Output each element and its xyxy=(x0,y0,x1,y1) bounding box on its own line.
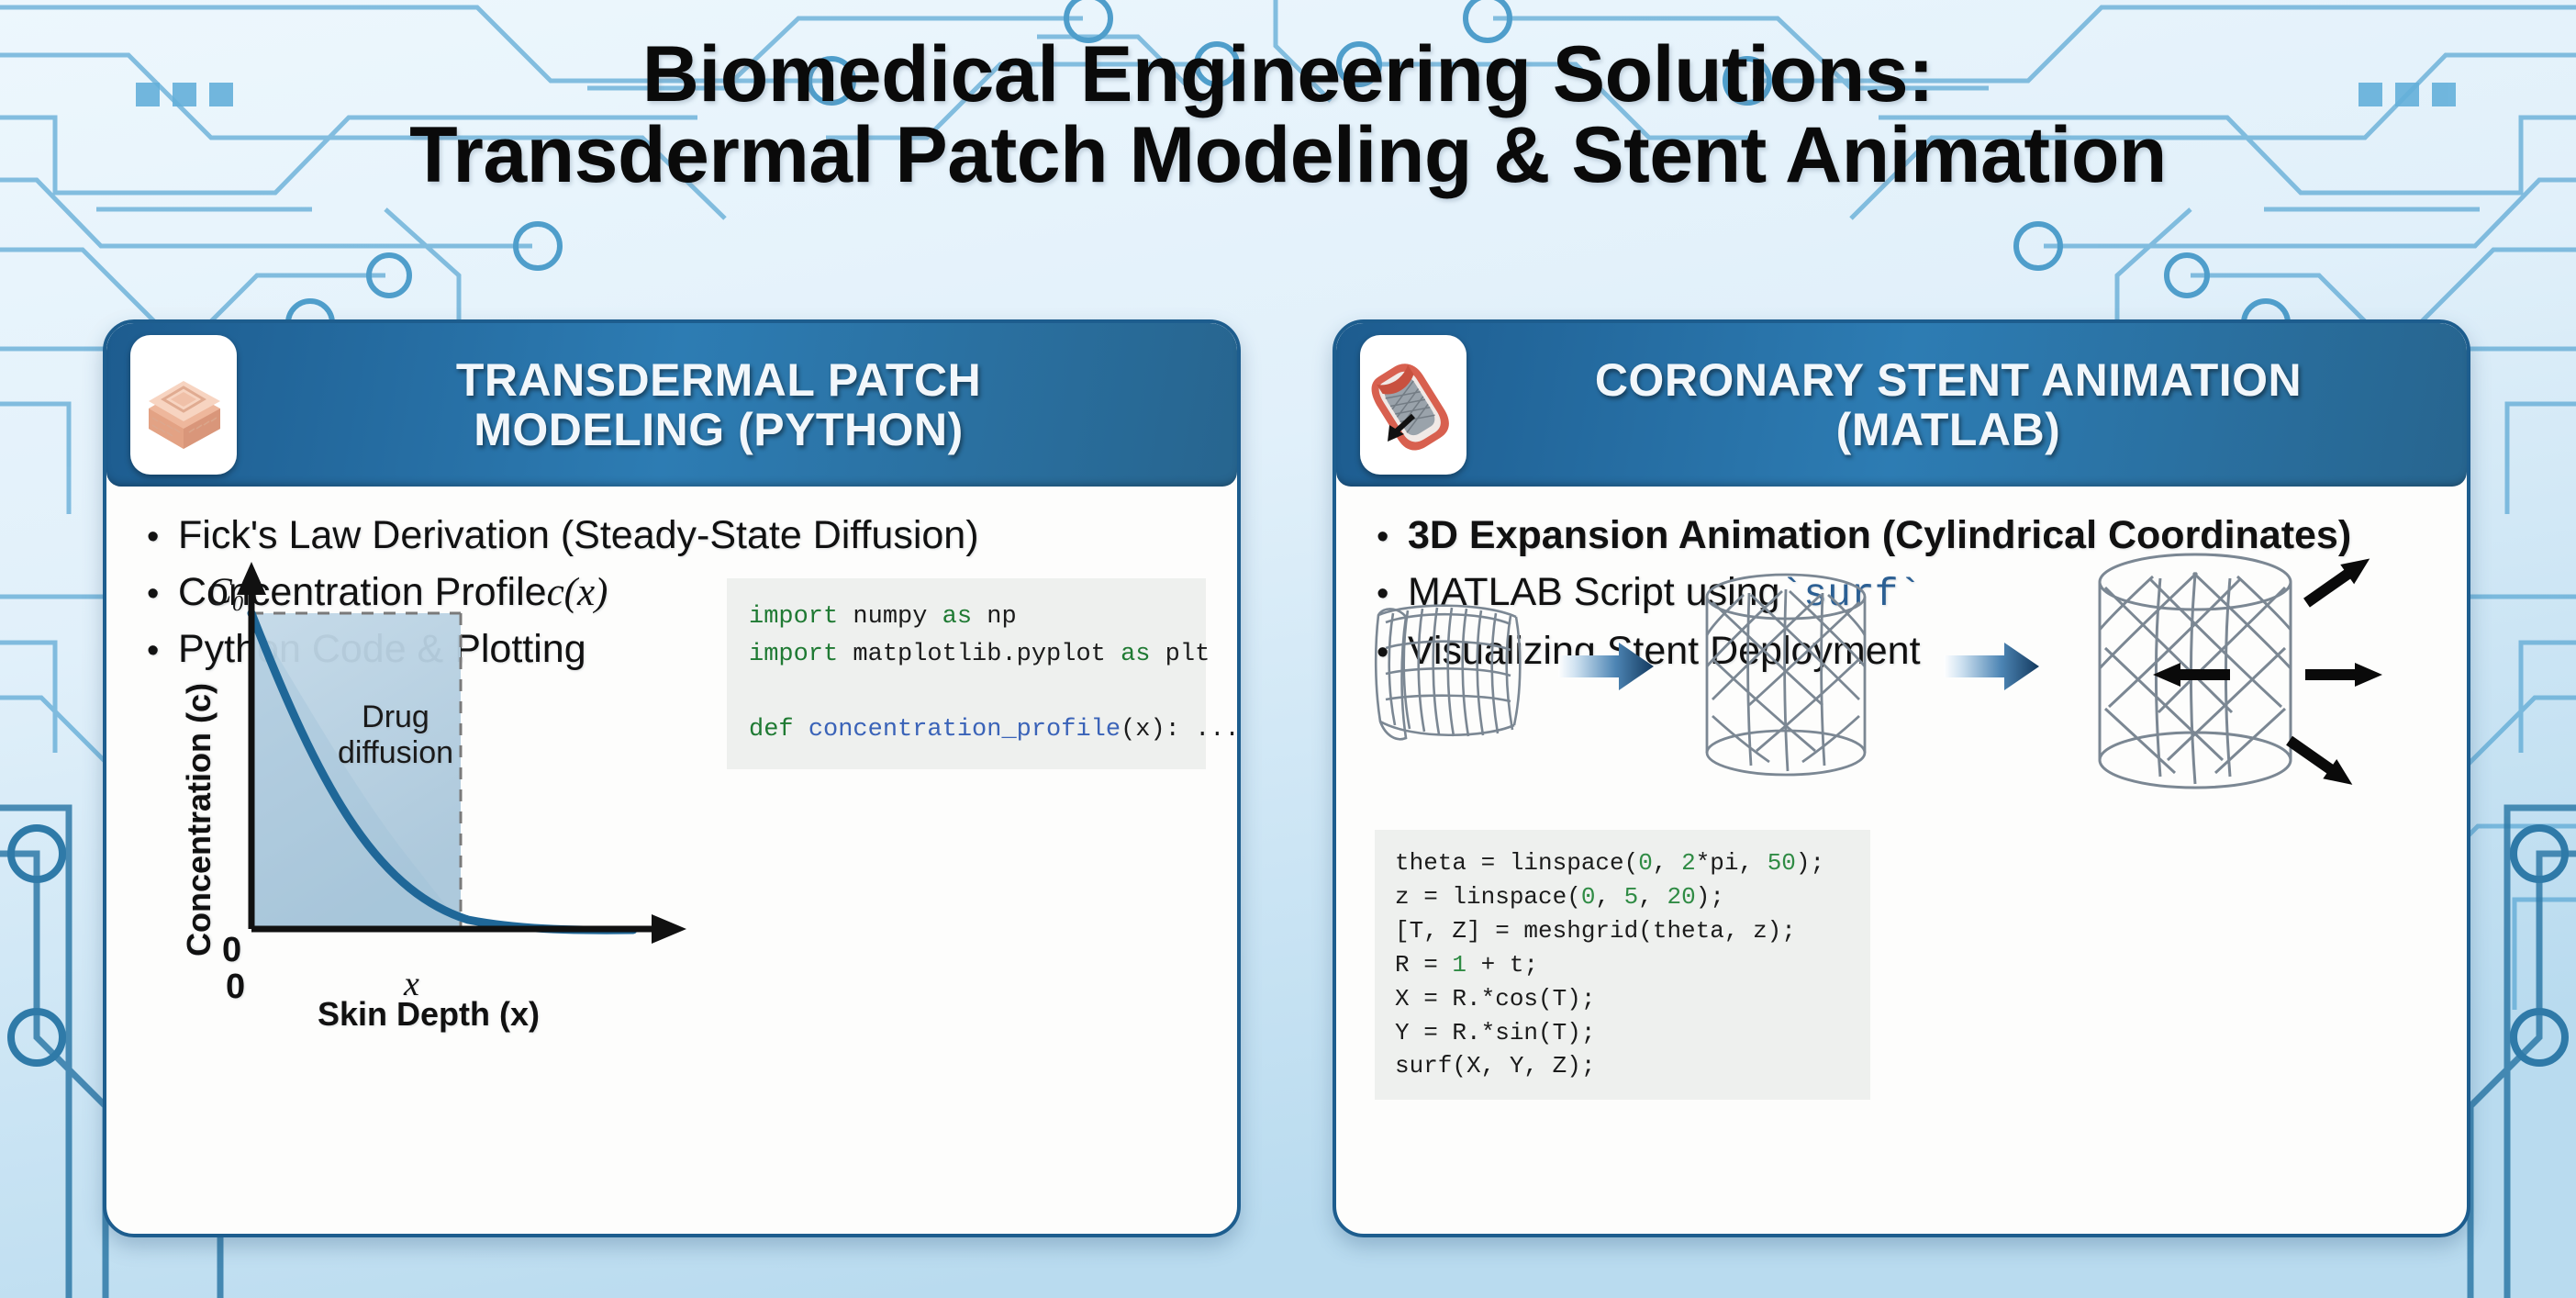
flow-arrow-icon xyxy=(1944,643,2039,690)
bullet-dot-icon: • xyxy=(147,515,178,560)
page-title-line-2: Transdermal Patch Modeling & Stent Anima… xyxy=(0,116,2576,196)
left-title-line-1: TRANSDERMAL PATCH xyxy=(261,355,1176,405)
skin-patch-glyph xyxy=(136,357,231,453)
crimped-stent xyxy=(1376,606,1520,739)
artery-stent-icon xyxy=(1360,335,1466,475)
right-title-line-2: (MATLAB) xyxy=(1490,405,2406,454)
right-card-header: CORONARY STENT ANIMATION (MATLAB) xyxy=(1336,323,2467,487)
coronary-stent-card: CORONARY STENT ANIMATION (MATLAB) • 3D E… xyxy=(1333,319,2470,1237)
python-code-block: import numpy as np import matplotlib.pyp… xyxy=(727,578,1206,769)
chart-y-axis-label: Concentration (c) xyxy=(180,683,218,957)
artery-stent-glyph xyxy=(1366,357,1461,453)
right-card-title: CORONARY STENT ANIMATION (MATLAB) xyxy=(1490,355,2443,454)
matlab-code-block: theta = linspace(0, 2*pi, 50); z = linsp… xyxy=(1375,830,1870,1100)
chart-annotation-drug-diffusion: Drugdiffusion xyxy=(318,699,474,771)
concentration-profile-chart: Concentration (c) Skin Depth (x) C₀ 0 0 … xyxy=(138,560,697,1037)
left-title-line-2: MODELING (PYTHON) xyxy=(261,405,1176,454)
skin-patch-icon xyxy=(130,335,237,475)
page-title: Biomedical Engineering Solutions: Transd… xyxy=(0,35,2576,196)
page-title-line-1: Biomedical Engineering Solutions: xyxy=(0,35,2576,116)
chart-x-tick-x: x xyxy=(404,964,419,1004)
expansion-arrow-icon xyxy=(2153,551,2382,794)
transdermal-patch-card: TRANSDERMAL PATCH MODELING (PYTHON) • Fi… xyxy=(103,319,1241,1237)
right-title-line-1: CORONARY STENT ANIMATION xyxy=(1490,355,2406,405)
stent-expansion-sequence xyxy=(1364,551,2447,799)
chart-y-tick-c0: C₀ xyxy=(207,569,245,612)
chart-y-tick-zero: 0 xyxy=(222,931,241,970)
chart-x-tick-zero: 0 xyxy=(226,968,245,1007)
chart-x-axis-label: Skin Depth (x) xyxy=(318,995,540,1034)
left-card-header: TRANSDERMAL PATCH MODELING (PYTHON) xyxy=(106,323,1237,487)
partially-expanded-stent xyxy=(1707,575,1865,775)
flow-arrow-icon xyxy=(1558,643,1654,690)
list-item: • Fick's Law Derivation (Steady-State Di… xyxy=(147,510,1200,562)
bullet-text: Fick's Law Derivation (Steady-State Diff… xyxy=(178,510,979,562)
stent-sequence-svg xyxy=(1364,551,2447,799)
left-card-title: TRANSDERMAL PATCH MODELING (PYTHON) xyxy=(261,355,1213,454)
